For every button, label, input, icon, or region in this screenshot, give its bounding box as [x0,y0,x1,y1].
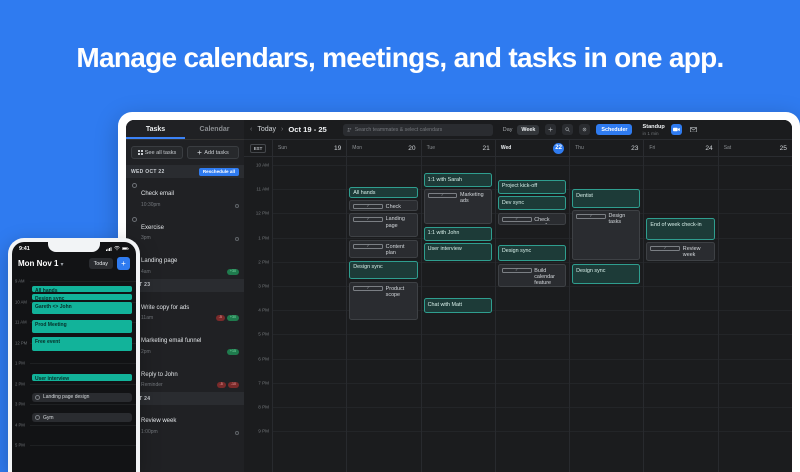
phone-event-title: Landing page design [43,394,89,400]
calendar-event[interactable]: End of week check-in [646,218,714,240]
calendar-task[interactable]: ✓Landing page [349,213,417,237]
hour-gridline [422,165,495,166]
hour-gridline [570,334,643,335]
hour-gridline [719,383,792,384]
event-title: User interview [428,246,462,252]
phone-event-title: User interview [35,376,69,382]
phone-hour-gridline [30,425,136,426]
hour-gridline [644,165,717,166]
event-title: Design sync [502,248,531,254]
add-event-button[interactable] [545,124,556,135]
hour-gridline [347,431,420,432]
day-name: Tue [427,145,435,151]
phone-hour-gridline [30,445,136,446]
hour-gridline [347,165,420,166]
task-checkbox-icon[interactable]: ✓ [502,268,532,273]
day-number: 20 [408,145,415,152]
video-camera-icon [673,127,680,132]
status-badge: -5 [216,315,225,321]
status-badge: +30 [227,269,239,275]
tab-calendar[interactable]: Calendar [185,120,244,139]
day-header-wed[interactable]: Wed22 [495,140,569,156]
task-checkbox-icon[interactable] [35,395,40,400]
day-number: 24 [705,145,712,152]
more-options-icon[interactable] [235,237,239,241]
hour-gridline [273,383,346,384]
phone-time-label: 3 PM [15,402,25,407]
day-number: 19 [334,145,341,152]
battery-icon [122,247,129,251]
phone-today-button[interactable]: Today [89,258,113,269]
phone-calendar-task[interactable]: Landing page design [32,393,132,402]
phone-add-button[interactable]: + [117,257,130,270]
calendar-event[interactable]: Design sync [572,264,640,284]
upcoming-meeting-time: in 1 min [642,131,664,136]
task-badges [235,237,239,241]
hour-gridline [273,238,346,239]
task-group-header: OCT 24 [126,392,244,405]
join-video-button[interactable] [671,124,682,135]
day-number: 25 [780,145,787,152]
phone-calendar-task[interactable]: Gym [32,413,132,422]
day-number: 21 [483,145,490,152]
calendar-event[interactable]: Dev sync [498,196,566,210]
phone-hour-gridline [30,281,136,282]
hour-gridline [273,165,346,166]
task-checkbox-icon[interactable]: ✓ [353,204,383,209]
calendar-task[interactable]: ✓Build calendar feature [498,264,566,287]
day-cells: Sun19Mon20Tue21Wed22Thu23Fri24Sat25 [272,140,792,156]
grid-icon [138,150,143,155]
phone-calendar-grid[interactable]: 9 AM10 AM11 AM12 PM1 PM2 PM3 PM4 PM5 PMA… [12,275,136,457]
hour-gridline [273,262,346,263]
hour-gridline [496,334,569,335]
phone-event-title: Prod Meeting [35,322,67,328]
task-text: Landing page4am [141,249,239,275]
hour-gridline [644,286,717,287]
task-text: Marketing email funnel2pm [141,329,239,355]
gear-icon [582,127,587,132]
event-title: Content plan [386,244,414,256]
time-label: 5 PM [258,332,269,337]
day-name: Sun [278,145,287,151]
task-badges: +15 [227,349,239,355]
hour-gridline [644,383,717,384]
timezone-label: EST [250,144,267,153]
view-toggle[interactable]: Day Week [499,125,540,135]
task-group-header: WED OCT 22Reschedule all [126,165,244,178]
day-name: Mon [352,145,362,151]
time-label: 7 PM [258,380,269,385]
calendar-event[interactable]: Dentist [572,189,640,207]
hour-gridline [422,334,495,335]
hour-gridline [644,213,717,214]
hour-gridline [570,165,643,166]
task-row[interactable]: Exercise3pm [126,212,244,246]
mail-icon [690,127,697,133]
task-badges [235,204,239,208]
event-title: Landing page [386,216,414,228]
hour-gridline [422,383,495,384]
task-group-list: WED OCT 22Reschedule allCheck email10:30… [126,165,244,439]
day-columns[interactable]: All hands✓Check emails✓Landing page✓Cont… [272,157,792,472]
task-text: Review week1:00pm [141,409,239,435]
tablet-screen: Tasks Calendar See all tasks Add tasks W… [126,120,792,472]
calendar-task[interactable]: ✓Check emails [349,200,417,211]
hour-gridline [422,407,495,408]
task-checkbox-icon[interactable]: ✓ [353,217,383,222]
event-title: Project kick-off [502,183,537,189]
phone-event-title: Gareth <> John [35,304,72,310]
phone-calendar-event[interactable]: Design sync [32,294,132,301]
event-title: All hands [353,190,375,196]
task-text: Check email10:30pm [141,182,239,208]
calendar-task[interactable]: ✓Design tasks [572,210,640,260]
day-header-mon[interactable]: Mon20 [346,140,420,156]
hour-gridline [273,213,346,214]
task-row[interactable]: Write copy for ads11am-5+30 [126,292,244,326]
plus-icon [548,127,553,132]
tasks-sidebar: Tasks Calendar See all tasks Add tasks W… [126,120,244,472]
calendar-panel: ‹ Today › Oct 19 - 25 Search teammates &… [244,120,792,472]
hour-gridline [570,383,643,384]
view-option-week[interactable]: Week [517,125,539,135]
day-column[interactable] [272,157,346,472]
day-column[interactable]: End of week check-in✓Review week [643,157,717,472]
time-label: 9 PM [258,429,269,434]
day-header-thu[interactable]: Thu23 [569,140,643,156]
phone-date-label: Mon Nov 1 [18,259,58,268]
task-checkbox[interactable] [132,183,137,188]
task-group-date: WED OCT 22 [131,169,165,175]
phone-calendar-event[interactable]: All hands [32,286,132,293]
calendar-grid[interactable]: 10 AM11 AM12 PM1 PM2 PM3 PM4 PM5 PM6 PM7… [244,157,792,472]
signal-icon [106,247,112,251]
task-title: Review week [141,418,176,424]
hour-gridline [422,286,495,287]
time-label: 10 AM [256,163,269,168]
upcoming-meeting[interactable]: Standup in 1 min [642,124,664,136]
wifi-icon [114,246,120,251]
phone-event-title: Free event [35,339,60,345]
day-column[interactable]: All hands✓Check emails✓Landing page✓Cont… [346,157,420,472]
hour-gridline [719,165,792,166]
hour-gridline [644,310,717,311]
event-title: Chat with Matt [428,302,462,308]
chevron-down-icon[interactable]: ▾ [60,261,63,268]
hour-gridline [719,238,792,239]
task-checkbox-icon[interactable]: ✓ [502,217,532,222]
task-row[interactable]: Marketing email funnel2pm+15 [126,325,244,359]
hour-gridline [644,407,717,408]
status-time: 9:41 [19,246,30,252]
hour-gridline [273,431,346,432]
search-button[interactable] [562,124,573,135]
hour-gridline [347,359,420,360]
task-time: 10:30pm [141,202,239,208]
day-name: Wed [501,145,511,151]
task-row[interactable]: Review week1:00pm [126,405,244,439]
task-text: Exercise3pm [141,216,239,242]
hour-gridline [422,262,495,263]
time-label: 11 AM [256,187,269,192]
task-title: Check email [141,191,174,197]
hour-gridline [273,286,346,287]
hour-gridline [496,165,569,166]
search-icon [565,127,570,132]
phone-time-label: 10 AM [15,299,27,304]
hour-gridline [347,407,420,408]
add-tasks-label: Add tasks [204,150,229,156]
time-label: 8 PM [258,405,269,410]
task-checkbox-icon[interactable]: ✓ [428,193,458,198]
task-title: Exercise [141,225,164,231]
hour-gridline [273,359,346,360]
task-badges: -5+30 [216,315,239,321]
event-title: Design sync [353,264,382,270]
sidebar-actions: See all tasks Add tasks [126,140,244,165]
event-title: Design tasks [609,213,637,225]
task-time: 4am [141,269,239,275]
phone-calendar-event[interactable]: User interview [32,374,132,382]
task-checkbox-icon[interactable]: ✓ [353,286,383,291]
event-title: Build calendar feature [534,268,562,287]
task-title: Reply to John [141,372,178,378]
hour-gridline [347,334,420,335]
hour-gridline [644,262,717,263]
calendar-event[interactable]: All hands [349,187,417,199]
status-badge: -10 [228,382,239,388]
event-title: Design sync [576,268,605,274]
event-title: Product scope [386,286,414,298]
phone-hour-gridline [30,384,136,385]
phone-header: Mon Nov 1 ▾ Today + [12,253,136,275]
date-navigation: ‹ Today › Oct 19 - 25 [250,125,327,134]
hour-gridline [570,431,643,432]
event-title: 1:1 with Sarah [428,177,462,183]
task-group-header: OCT 23 [126,279,244,292]
day-number: 22 [553,143,564,154]
hour-gridline [273,310,346,311]
day-header-sun[interactable]: Sun19 [272,140,346,156]
phone-time-label: 2 PM [15,381,25,386]
time-label: 1 PM [258,235,269,240]
hour-gridline [496,383,569,384]
task-row[interactable]: Reply to JohnReminder-5-10 [126,359,244,393]
calendar-day-header: EST Sun19Mon20Tue21Wed22Thu23Fri24Sat25 [244,140,792,157]
phone-event-title: Design sync [35,296,64,301]
event-title: Check emails [534,217,562,225]
plus-icon [197,150,202,155]
phone-screen: 9:41 Mon Nov 1 ▾ Today + 9 AM10 AM11 AM1… [12,242,136,472]
prev-week-icon[interactable]: ‹ [250,126,252,133]
day-name: Sat [724,145,732,151]
calendar-event[interactable]: Project kick-off [498,180,566,194]
settings-button[interactable] [579,124,590,135]
more-options-icon[interactable] [235,204,239,208]
calendar-event[interactable]: 1:1 with John [424,227,492,241]
phone-time-label: 11 AM [15,320,27,325]
add-tasks-button[interactable]: Add tasks [187,146,239,159]
day-number: 23 [631,145,638,152]
calendar-event[interactable]: Design sync [349,261,417,280]
phone-time-label: 1 PM [15,361,25,366]
calendar-event[interactable]: Chat with Matt [424,298,492,313]
tab-tasks[interactable]: Tasks [126,120,185,139]
day-column[interactable] [718,157,792,472]
time-axis: 10 AM11 AM12 PM1 PM2 PM3 PM4 PM5 PM6 PM7… [244,157,272,472]
event-title: Check emails [386,204,414,212]
day-name: Thu [575,145,584,151]
event-title: Dentist [576,193,593,199]
task-checkbox-icon[interactable]: ✓ [650,246,680,251]
people-icon [347,127,352,132]
date-range-label: Oct 19 - 25 [288,125,326,134]
phone-time-label: 9 AM [15,279,25,284]
time-label: 3 PM [258,284,269,289]
hour-gridline [570,407,643,408]
phone-calendar-event[interactable]: Prod Meeting [32,320,132,334]
calendar-event[interactable]: 1:1 with Sarah [424,173,492,186]
hour-gridline [347,238,420,239]
day-name: Fri [649,145,655,151]
phone-date-group[interactable]: Mon Nov 1 ▾ [18,259,63,268]
task-checkbox[interactable] [132,217,137,222]
time-label: 2 PM [258,259,269,264]
phone-calendar-event[interactable]: Free event [32,337,132,351]
status-badge: +15 [227,349,239,355]
phone-notch [48,242,100,252]
phone-hour-gridline [30,363,136,364]
calendar-task[interactable]: ✓Check emails [498,213,566,225]
page-headline: Manage calendars, meetings, and tasks in… [0,42,800,74]
more-options-icon[interactable] [235,431,239,435]
hour-gridline [644,359,717,360]
event-title: Dev sync [502,200,524,206]
calendar-toolbar: ‹ Today › Oct 19 - 25 Search teammates &… [244,120,792,140]
time-label: 12 PM [256,211,269,216]
hour-gridline [496,238,569,239]
hour-gridline [496,262,569,263]
hour-gridline [644,189,717,190]
phone-event-title: All hands [35,288,58,293]
hour-gridline [719,407,792,408]
hour-gridline [570,262,643,263]
phone-hour-gridline [30,404,136,405]
calendar-task[interactable]: ✓Product scope [349,282,417,320]
hour-gridline [570,359,643,360]
next-week-icon[interactable]: › [281,126,283,133]
day-column[interactable]: Dentist✓Design tasksDesign sync [569,157,643,472]
phone-time-label: 12 PM [15,340,27,345]
phone-time-label: 4 PM [15,422,25,427]
phone-event-title: Gym [43,415,54,421]
hour-gridline [644,431,717,432]
hour-gridline [570,310,643,311]
hour-gridline [719,286,792,287]
task-checkbox-icon[interactable]: ✓ [576,214,606,219]
task-row[interactable]: Landing page4am+30 [126,245,244,279]
tablet-device: Tasks Calendar See all tasks Add tasks W… [118,112,800,472]
day-header-fri[interactable]: Fri24 [643,140,717,156]
hour-gridline [496,359,569,360]
status-badge: -5 [217,382,226,388]
hour-gridline [719,262,792,263]
task-row[interactable]: Check email10:30pm [126,178,244,212]
task-checkbox-icon[interactable]: ✓ [353,244,383,249]
task-badges: -5-10 [217,382,239,388]
sidebar-tabs: Tasks Calendar [126,120,244,140]
hour-gridline [496,407,569,408]
task-checkbox-icon[interactable] [35,415,40,420]
hour-gridline [719,213,792,214]
search-placeholder: Search teammates & select calendars [355,127,442,133]
phone-device: 9:41 Mon Nov 1 ▾ Today + 9 AM10 AM11 AM1… [8,238,140,472]
calendar-event[interactable]: Design sync [498,245,566,261]
event-title: Marketing ads [460,192,488,204]
task-title: Landing page [141,258,177,264]
calendar-task[interactable]: ✓Content plan [349,240,417,258]
view-option-day[interactable]: Day [499,125,517,135]
hour-gridline [496,310,569,311]
reschedule-all-button[interactable]: Reschedule all [199,168,239,176]
day-header-tue[interactable]: Tue21 [421,140,495,156]
see-all-tasks-button[interactable]: See all tasks [131,146,183,159]
hour-gridline [570,286,643,287]
upcoming-meeting-title: Standup [642,124,664,130]
hour-gridline [644,334,717,335]
today-button[interactable]: Today [257,126,276,133]
calendar-task[interactable]: ✓Marketing ads [424,189,492,224]
calendar-task[interactable]: ✓Review week [646,242,714,260]
event-title: Review week [683,246,711,258]
task-time: 3pm [141,235,239,241]
hour-gridline [422,359,495,360]
day-column[interactable]: 1:1 with Sarah✓Marketing ads1:1 with Joh… [421,157,495,472]
phone-calendar-event[interactable]: Gareth <> John [32,302,132,314]
hour-gridline [719,359,792,360]
calendar-event[interactable]: User interview [424,243,492,261]
day-header-sat[interactable]: Sat25 [718,140,792,156]
time-label: 4 PM [258,308,269,313]
hour-gridline [273,189,346,190]
hour-gridline [719,189,792,190]
hour-gridline [719,334,792,335]
phone-header-buttons: Today + [89,257,130,270]
mail-button[interactable] [688,124,699,135]
hour-gridline [719,310,792,311]
hour-gridline [496,431,569,432]
scheduler-button[interactable]: Scheduler [596,124,632,135]
event-title: 1:1 with John [428,230,460,236]
hour-gridline [273,334,346,335]
task-title: Write copy for ads [141,305,189,311]
hour-gridline [422,431,495,432]
task-time: 1:00pm [141,429,239,435]
hour-gridline [273,407,346,408]
status-badge: +30 [227,315,239,321]
timezone-cell: EST [244,140,272,156]
hour-gridline [719,431,792,432]
task-title: Marketing email funnel [141,338,201,344]
see-all-tasks-label: See all tasks [145,150,177,156]
search-input[interactable]: Search teammates & select calendars [343,124,493,136]
time-label: 6 PM [258,356,269,361]
status-icons [106,246,129,251]
task-badges: +30 [227,269,239,275]
day-column[interactable]: Project kick-offDev sync✓Check emailsDes… [495,157,569,472]
task-time: 2pm [141,349,239,355]
